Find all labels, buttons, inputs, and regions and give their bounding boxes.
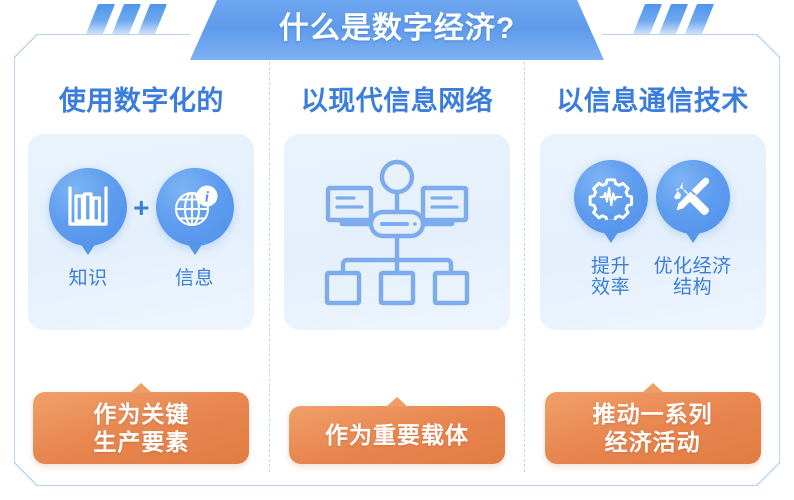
banner-shape: 什么是数字经济?: [190, 0, 604, 60]
cta-label: 作为重要载体: [325, 421, 469, 449]
infographic-root: 什么是数字经济? 使用数字化的: [0, 0, 794, 500]
cta-label: 推动一系列 经济活动: [593, 400, 713, 456]
title-banner: 什么是数字经济?: [0, 0, 794, 72]
network-topology-icon: [321, 157, 473, 307]
column-ict: 以信息通信技术 提升 效率: [525, 34, 780, 486]
gear-pulse-icon: [574, 160, 648, 234]
badge-efficiency: 提升 效率: [574, 160, 648, 299]
badge-label: 提升 效率: [591, 256, 630, 299]
badge-label: 知识: [69, 268, 108, 289]
books-icon: [49, 168, 127, 246]
columns-container: 使用数字化的: [14, 34, 780, 486]
banner-slashes-right: [639, 4, 708, 34]
slash-decoration: [138, 4, 167, 34]
page-title: 什么是数字经济?: [279, 14, 515, 46]
column-title: 以信息通信技术: [556, 88, 749, 115]
column-title: 以现代信息网络: [301, 88, 494, 115]
icon-panel: [284, 134, 511, 330]
badge-knowledge: 知识: [49, 168, 127, 289]
plus-separator: +: [133, 194, 149, 222]
icon-panel: 提升 效率: [540, 134, 766, 330]
cta-box-digitalization[interactable]: 作为关键 生产要素: [33, 392, 249, 464]
column-network: 以现代信息网络: [270, 34, 525, 486]
slash-decoration: [659, 4, 688, 34]
slash-decoration: [112, 4, 141, 34]
slash-decoration: [685, 4, 714, 34]
cta-box-ict[interactable]: 推动一系列 经济活动: [545, 392, 761, 464]
badge-structure: 优化经济 结构: [654, 160, 732, 299]
badge-row: 知识 +: [28, 168, 254, 289]
badge-row: 提升 效率: [540, 160, 766, 299]
tools-icon: [656, 160, 730, 234]
column-digitalization: 使用数字化的: [14, 34, 269, 486]
banner-slashes-left: [92, 4, 161, 34]
globe-info-icon: i: [156, 168, 234, 246]
badge-information: i 信息: [156, 168, 234, 289]
badge-label: 信息: [175, 268, 214, 289]
column-title: 使用数字化的: [59, 88, 224, 115]
icon-panel: 知识 +: [28, 134, 254, 330]
badge-label: 优化经济 结构: [654, 256, 732, 299]
cta-label: 作为关键 生产要素: [93, 400, 189, 456]
slash-decoration: [86, 4, 115, 34]
slash-decoration: [633, 4, 662, 34]
cta-box-network[interactable]: 作为重要载体: [289, 406, 505, 464]
